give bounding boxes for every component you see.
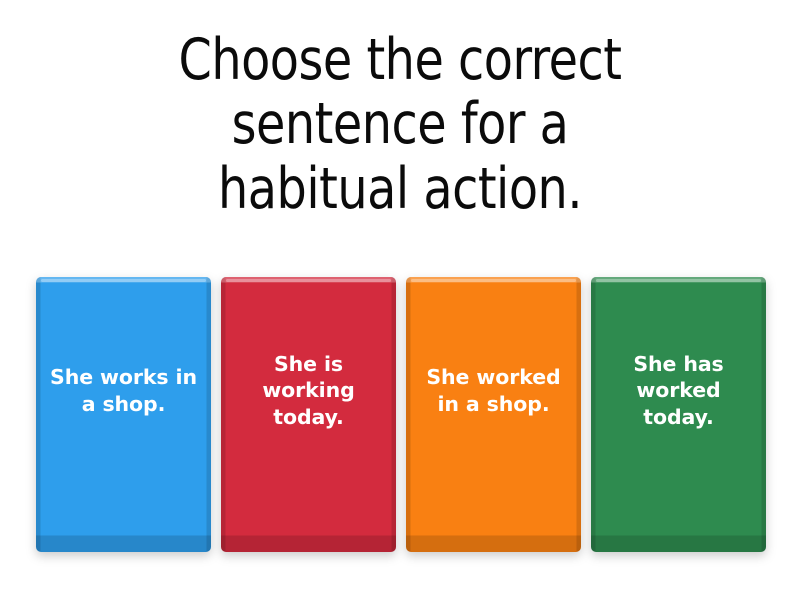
question-prompt: Choose the correct sentence for a habitu… xyxy=(102,28,697,221)
answer-card-2[interactable]: She is working today. xyxy=(221,277,396,552)
answer-card-2-label: She is working today. xyxy=(233,351,385,431)
answer-card-1[interactable]: She works in a shop. xyxy=(36,277,211,552)
answer-card-3-label: She worked in a shop. xyxy=(418,364,570,417)
quiz-stage: Choose the correct sentence for a habitu… xyxy=(0,0,800,600)
question-area: Choose the correct sentence for a habitu… xyxy=(0,28,800,260)
answer-card-4[interactable]: She has worked today. xyxy=(591,277,766,552)
answer-card-4-label: She has worked today. xyxy=(603,351,755,431)
answer-card-1-label: She works in a shop. xyxy=(48,364,200,417)
answer-card-3[interactable]: She worked in a shop. xyxy=(406,277,581,552)
answer-options-row: She works in a shop. She is working toda… xyxy=(36,277,766,552)
